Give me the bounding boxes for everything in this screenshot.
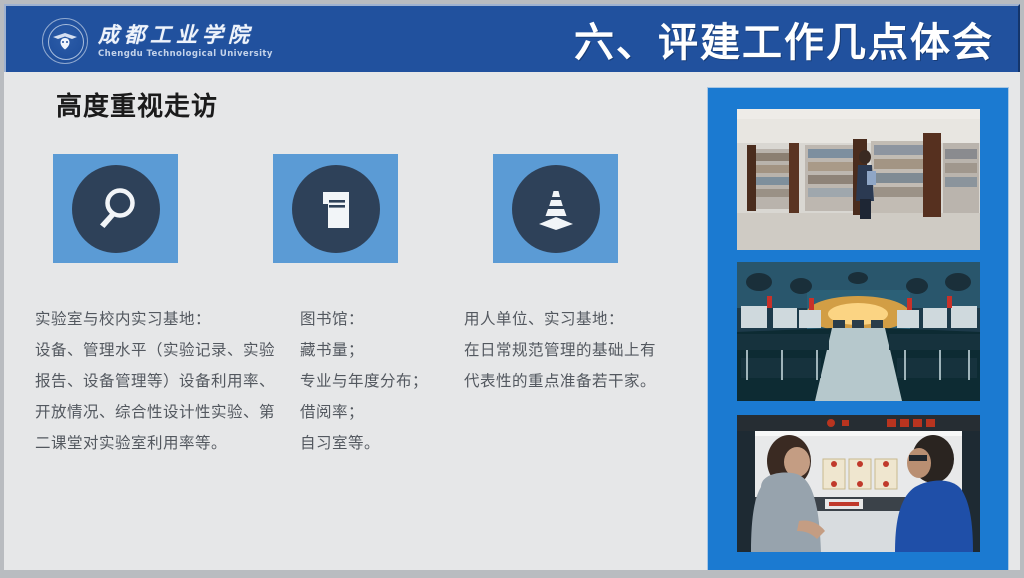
- photo-people-display-case: [737, 415, 980, 552]
- tile-circle: [72, 165, 160, 253]
- document-icon: [311, 184, 361, 234]
- university-name-en: Chengdu Technological University: [98, 49, 273, 59]
- photo-laboratory: [737, 262, 980, 401]
- university-logo: 成都工业学院 Chengdu Technological University: [42, 18, 273, 64]
- photo-panel: [708, 88, 1008, 570]
- slide-header: 成都工业学院 Chengdu Technological University …: [4, 4, 1020, 72]
- column-employer-text: 用人单位、实习基地： 在日常规范管理的基础上有代表性的重点准备若干家。: [464, 304, 664, 397]
- tile-circle: [512, 165, 600, 253]
- emblem-bird-icon: [52, 31, 78, 51]
- column-library-text: 图书馆： 藏书量； 专业与年度分布； 借阅率； 自习室等。: [300, 304, 460, 459]
- university-name-cn: 成都工业学院: [98, 23, 273, 47]
- tile-laboratory: [53, 154, 178, 263]
- icon-tile-group: [53, 154, 673, 279]
- page-title: 六、评建工作几点体会: [574, 10, 994, 68]
- university-name-block: 成都工业学院 Chengdu Technological University: [98, 23, 273, 58]
- photo-library-bookshelves: [737, 109, 980, 250]
- tile-circle: [292, 165, 380, 253]
- tile-employer: [493, 154, 618, 263]
- laboratory-workbenches-photo: [737, 262, 980, 401]
- traffic-cone-icon: [531, 184, 581, 234]
- tile-library: [273, 154, 398, 263]
- section-subtitle: 高度重视走访: [56, 86, 218, 123]
- column-laboratory-text: 实验室与校内实习基地： 设备、管理水平（实验记录、实验报告、设备管理等）设备利用…: [35, 304, 285, 459]
- two-people-display-case-photo: [737, 415, 980, 552]
- university-emblem-icon: [42, 18, 88, 64]
- magnifier-icon: [91, 184, 141, 234]
- slide-canvas: 成都工业学院 Chengdu Technological University …: [4, 4, 1020, 570]
- library-bookshelves-photo: [737, 109, 980, 250]
